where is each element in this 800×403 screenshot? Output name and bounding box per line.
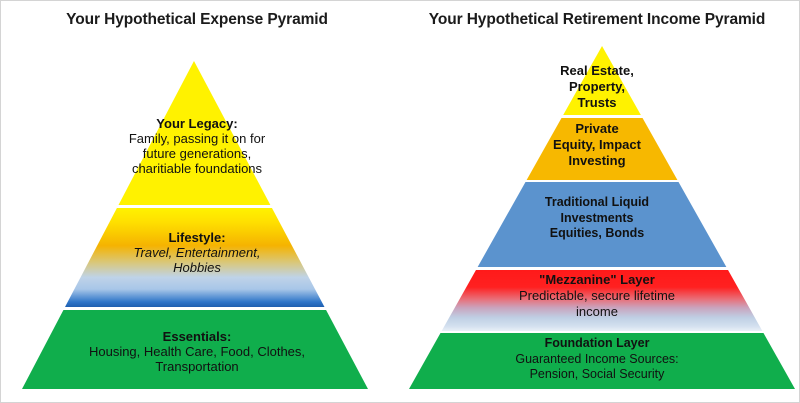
layer-fill-lifestyle [1, 208, 393, 307]
layer-fill-mezzanine [393, 270, 800, 331]
expense-pyramid-title: Your Hypothetical Expense Pyramid [1, 11, 393, 29]
layer-fill-legacy [1, 61, 393, 205]
retirement-income-pyramid-shape [393, 1, 800, 403]
expense-pyramid-shape [1, 1, 393, 403]
layer-fill-private-equity [393, 118, 800, 180]
retirement-income-pyramid-title: Your Hypothetical Retirement Income Pyra… [393, 11, 800, 29]
layer-fill-essentials [1, 310, 393, 390]
layer-fill-real-estate [393, 46, 800, 115]
retirement-income-pyramid-panel: Your Hypothetical Retirement Income Pyra… [393, 1, 800, 403]
pyramid-infographic: Your Hypothetical Expense Pyramid Your L… [0, 0, 800, 403]
layer-fill-foundation [393, 333, 800, 390]
expense-pyramid-panel: Your Hypothetical Expense Pyramid Your L… [1, 1, 393, 403]
layer-fill-traditional-liquid [393, 182, 800, 267]
